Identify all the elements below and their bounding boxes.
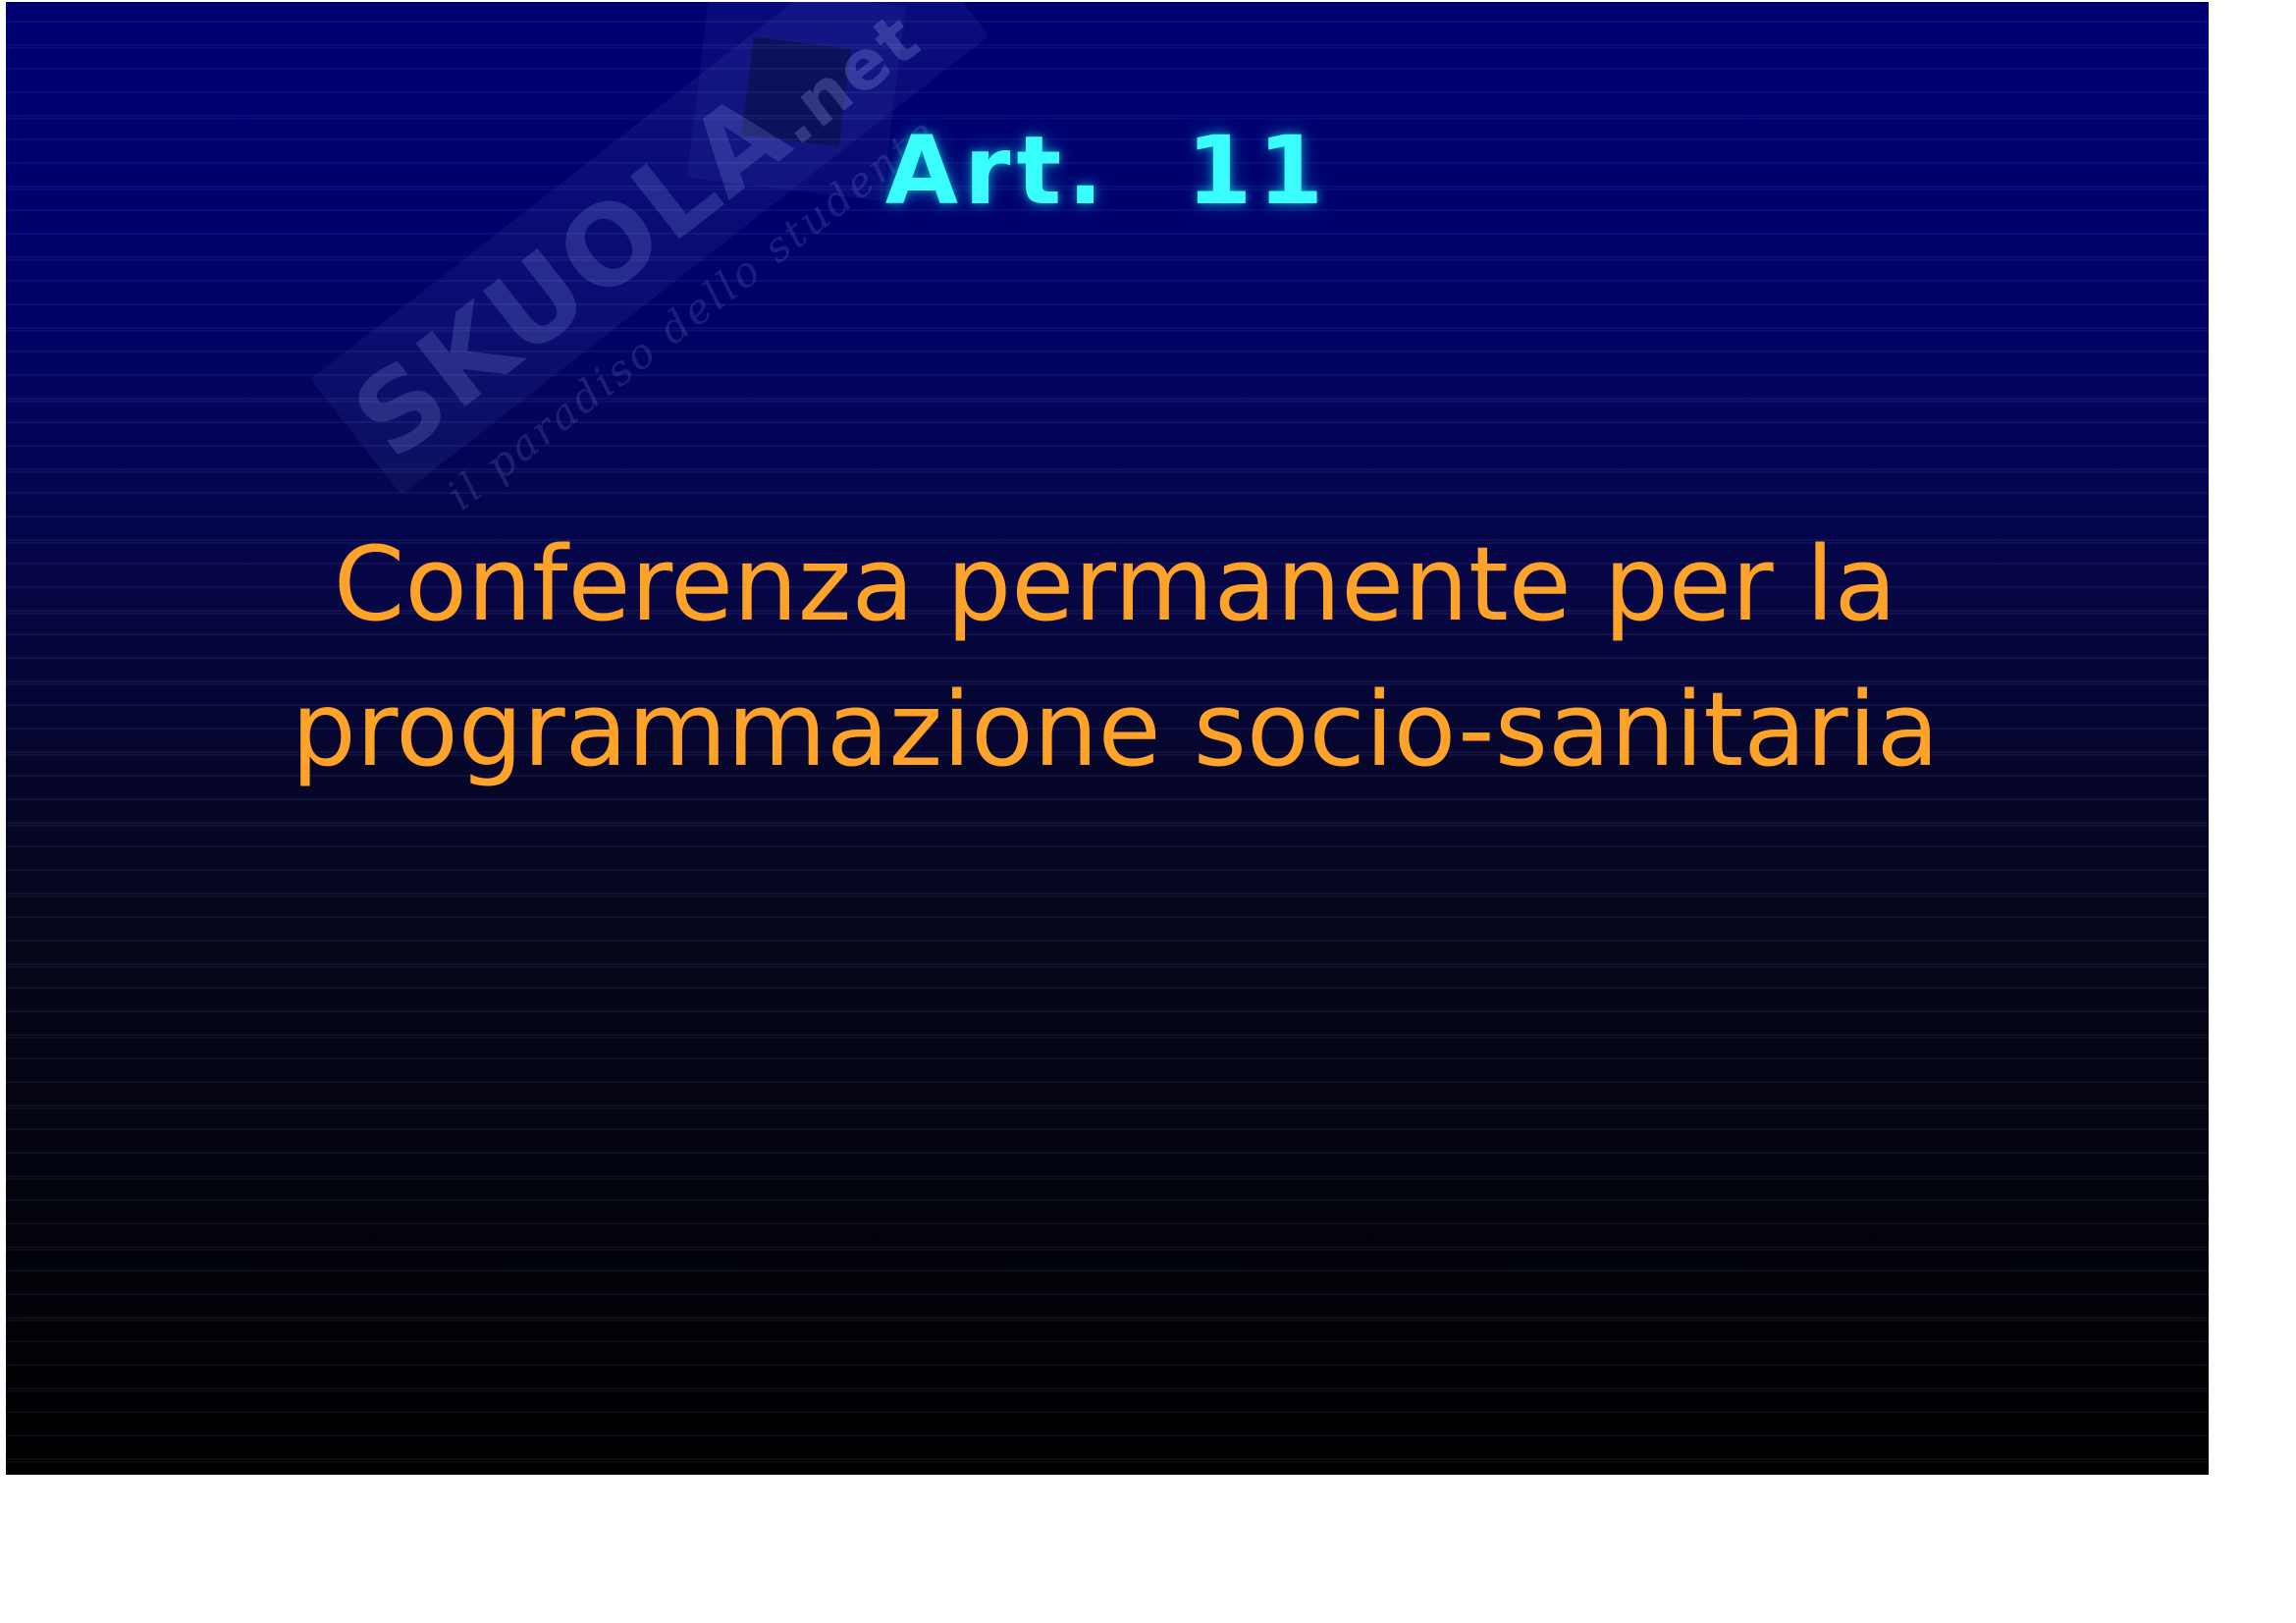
slide-body-text: Conferenza permanente per la programmazi… bbox=[183, 513, 2048, 802]
slide-body-line-2: programmazione socio-sanitaria bbox=[183, 658, 2048, 803]
watermark-brand: SKUOLA.net bbox=[331, 2, 940, 484]
slide-title: Art. 11 bbox=[6, 124, 2209, 218]
slide-body-line-1: Conferenza permanente per la bbox=[183, 513, 2048, 658]
watermark-bar-shape bbox=[310, 2, 988, 495]
presentation-slide: SKUOLA.net il paradiso dello studente Ar… bbox=[6, 2, 2209, 1475]
